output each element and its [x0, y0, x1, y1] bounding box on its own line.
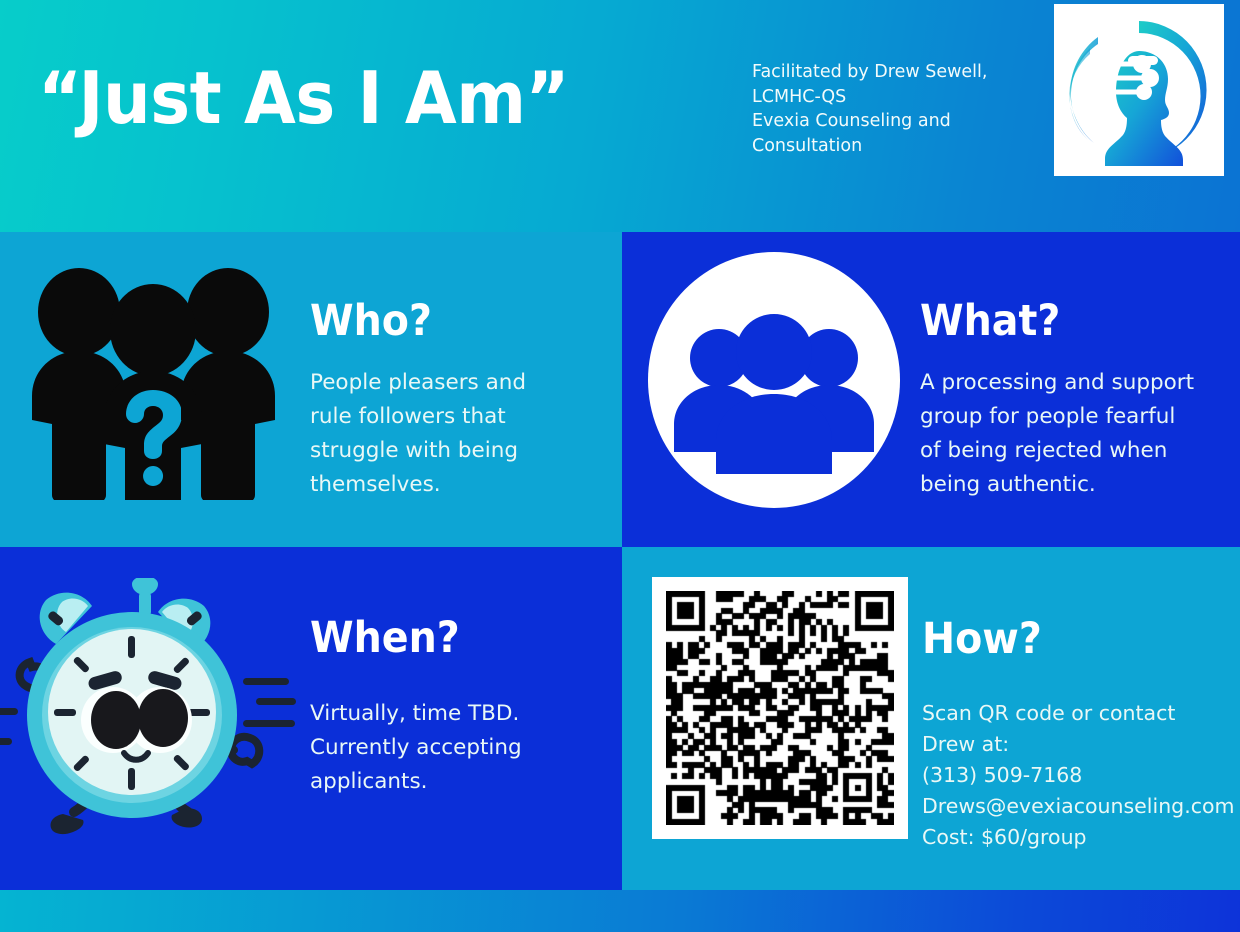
when-heading: When?	[310, 617, 460, 660]
when-line-1: Virtually, time TBD.	[310, 697, 522, 731]
head-brain-enso-icon	[1054, 4, 1224, 176]
how-heading: How?	[922, 618, 1042, 661]
who-line-4: themselves.	[310, 468, 526, 502]
what-line-2: group for people fearful	[920, 400, 1194, 434]
qr-code-icon[interactable]	[652, 577, 908, 839]
what-line-1: A processing and support	[920, 366, 1194, 400]
group-cost: Cost: $60/group	[922, 822, 1235, 853]
what-heading: What?	[920, 300, 1060, 343]
footer-gradient-strip	[0, 890, 1240, 932]
who-description: People pleasers and rule followers that …	[310, 366, 526, 502]
contact-email: Drews@evexiacounseling.com	[922, 791, 1235, 822]
what-description: A processing and support group for peopl…	[920, 366, 1194, 502]
when-line-3: applicants.	[310, 765, 522, 799]
how-line-1: Scan QR code or contact	[922, 698, 1235, 729]
group-circle-icon	[648, 252, 900, 508]
how-contact-info: Scan QR code or contact Drew at: (313) 5…	[922, 698, 1235, 853]
who-line-2: rule followers that	[310, 400, 526, 434]
who-line-3: struggle with being	[310, 434, 526, 468]
three-people-question-icon	[22, 268, 284, 500]
contact-phone: (313) 509-7168	[922, 760, 1235, 791]
poster-header: “Just As I Am” Facilitated by Drew Sewel…	[0, 0, 1240, 232]
facilitator-line-3: Evexia Counseling and	[752, 109, 1032, 134]
what-line-3: of being rejected when	[920, 434, 1194, 468]
qr-code-image[interactable]	[666, 591, 894, 825]
who-heading: Who?	[310, 300, 432, 343]
when-description: Virtually, time TBD. Currently accepting…	[310, 697, 522, 799]
facilitator-line-4: Consultation	[752, 134, 1032, 159]
poster-canvas: “Just As I Am” Facilitated by Drew Sewel…	[0, 0, 1240, 932]
what-line-4: being authentic.	[920, 468, 1194, 502]
brand-logo	[1054, 4, 1224, 176]
how-line-2: Drew at:	[922, 729, 1235, 760]
who-line-1: People pleasers and	[310, 366, 526, 400]
when-line-2: Currently accepting	[310, 731, 522, 765]
page-title: “Just As I Am”	[38, 62, 569, 134]
facilitator-credit: Facilitated by Drew Sewell, LCMHC-QS Eve…	[752, 60, 1032, 158]
alarm-clock-character-icon	[0, 578, 300, 842]
facilitator-line-1: Facilitated by Drew Sewell,	[752, 60, 1032, 85]
facilitator-line-2: LCMHC-QS	[752, 85, 1032, 110]
